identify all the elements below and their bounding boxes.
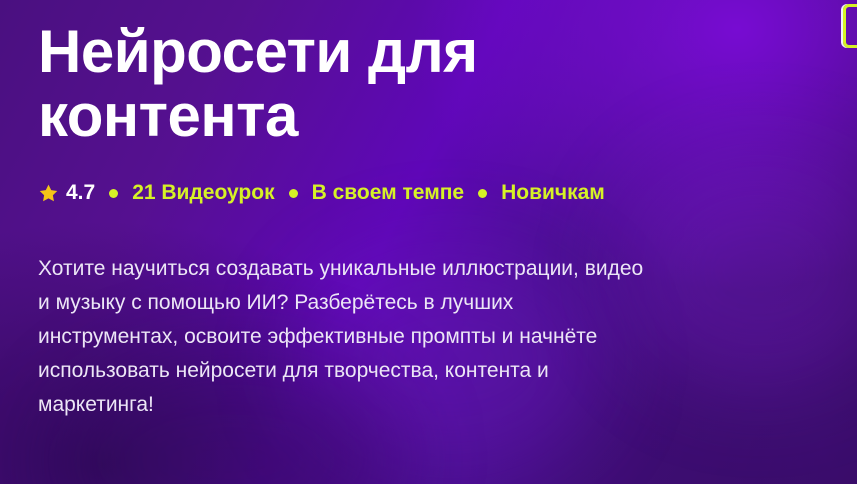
hero-content: Нейросети для контента 4.7 21 Видеоурок …: [0, 0, 857, 422]
bullet-separator-icon: [289, 189, 298, 198]
bullet-separator-icon: [109, 189, 118, 198]
hero-banner: Нейросети для контента 4.7 21 Видеоурок …: [0, 0, 857, 484]
course-description: Хотите научиться создавать уникальные ил…: [38, 252, 648, 422]
edge-badge-cropped[interactable]: [843, 4, 857, 48]
course-meta-row: 4.7 21 Видеоурок В своем темпе Новичкам: [38, 178, 857, 208]
rating-value: 4.7: [66, 181, 95, 205]
rating-group: 4.7: [38, 181, 95, 205]
meta-item-level: Новичкам: [501, 181, 605, 205]
bullet-separator-icon: [478, 189, 487, 198]
page-title: Нейросети для контента: [38, 20, 658, 148]
star-icon: [38, 183, 59, 204]
meta-item-pace: В своем темпе: [312, 181, 465, 205]
meta-item-lessons: 21 Видеоурок: [132, 181, 274, 205]
